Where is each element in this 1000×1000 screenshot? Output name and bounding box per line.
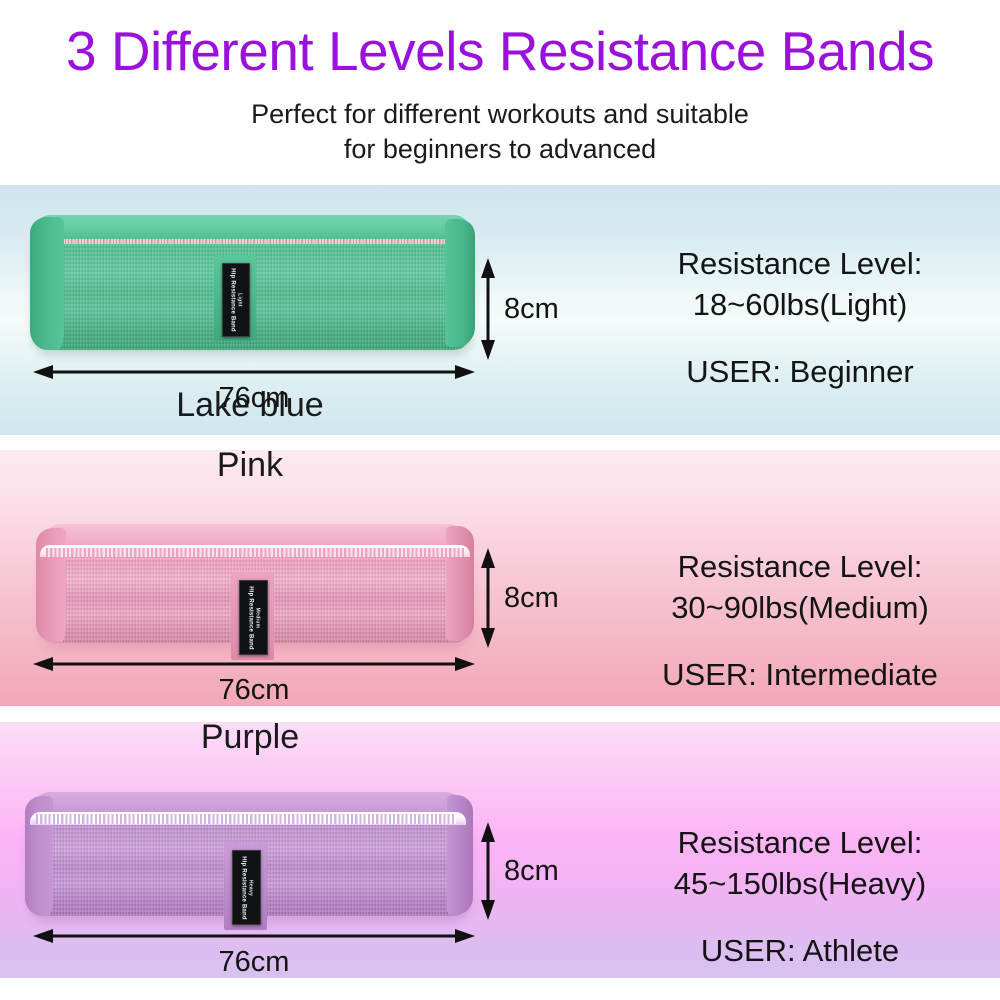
subtitle-line-1: Perfect for different workouts and suita… [0,97,1000,132]
resistance-level-label: Resistance Level: [600,243,1000,284]
width-value: 8cm [504,581,559,615]
spec-text-block: Resistance Level: 30~90lbs(Medium) USER:… [600,546,1000,695]
tag-level-text: Medium [255,607,261,628]
band-brand-tag: Medium Hip Resistance Band [239,580,268,655]
double-arrow-horizontal-icon [33,363,475,381]
product-infographic: 3 Different Levels Resistance Bands Perf… [0,0,1000,1000]
resistance-level-value: 30~90lbs(Medium) [600,587,1000,628]
tag-level-text: Heavy [248,879,254,895]
user-level-label: USER: Intermediate [600,654,1000,695]
tag-brand-text: Hip Resistance Band [247,586,254,649]
tag-brand-text: Hip Resistance Band [229,268,236,331]
double-arrow-horizontal-icon [33,655,475,673]
resistance-level-label: Resistance Level: [600,546,1000,587]
band-right-end [446,526,474,641]
tag-level-text: Light [237,293,243,307]
product-panel-purple: Purple Heavy Hip Resistance Band [0,722,1000,978]
spec-text-block: Resistance Level: 45~150lbs(Heavy) USER:… [600,822,1000,971]
width-value: 8cm [504,854,559,888]
band-brand-tag: Heavy Hip Resistance Band [232,850,261,925]
length-value: 76cm [33,945,475,978]
resistance-level-label: Resistance Level: [600,822,1000,863]
width-dimension-arrow: 8cm [478,548,548,648]
length-value: 76cm [33,381,475,415]
product-panel-pink: Pink Medium Hip Resistance Band [0,450,1000,706]
band-rib-texture [36,814,456,824]
double-arrow-horizontal-icon [33,927,475,945]
band-right-end [445,219,475,347]
width-dimension-arrow: 8cm [478,822,548,920]
length-dimension-arrow: 76cm [33,363,475,389]
band-rib-texture [46,548,464,557]
band-top-rim [34,215,470,241]
user-level-label: USER: Beginner [600,351,1000,392]
resistance-level-value: 45~150lbs(Heavy) [600,863,1000,904]
header-section: 3 Different Levels Resistance Bands Perf… [0,0,1000,182]
user-level-label: USER: Athlete [600,930,1000,971]
width-value: 8cm [504,292,559,326]
resistance-level-value: 18~60lbs(Light) [600,284,1000,325]
length-dimension-arrow: 76cm [33,655,475,681]
page-title: 3 Different Levels Resistance Bands [0,20,1000,82]
length-value: 76cm [33,673,475,706]
double-arrow-vertical-icon [478,258,498,360]
double-arrow-vertical-icon [478,822,498,920]
double-arrow-vertical-icon [478,548,498,648]
product-panel-lake-blue: Lake blue Light Hip Resistance Band [0,185,1000,435]
subtitle-line-2: for beginners to advanced [0,132,1000,167]
tag-brand-text: Hip Resistance Band [240,856,247,919]
width-dimension-arrow: 8cm [478,258,548,360]
band-brand-tag: Light Hip Resistance Band [222,263,250,337]
spec-text-block: Resistance Level: 18~60lbs(Light) USER: … [600,243,1000,392]
band-left-end [30,217,64,350]
length-dimension-arrow: 76cm [33,927,475,953]
page-subtitle: Perfect for different workouts and suita… [0,97,1000,167]
